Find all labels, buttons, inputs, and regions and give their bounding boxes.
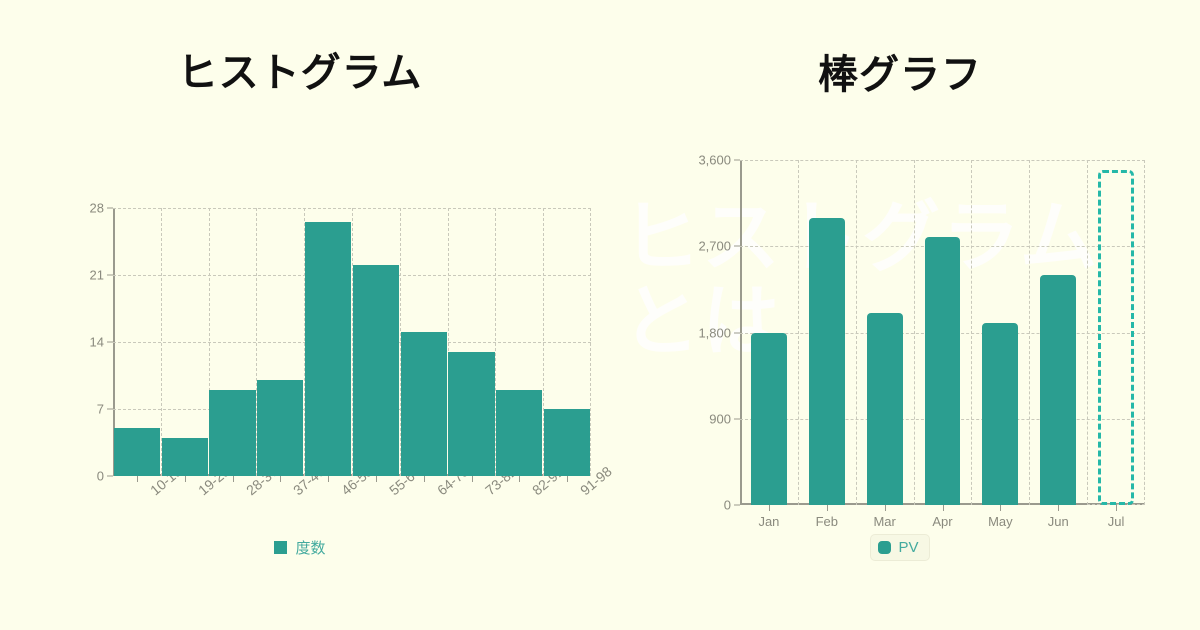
pv-legend-chip[interactable]: PV [871, 535, 928, 560]
y-axis-tick-label: 21 [90, 268, 104, 283]
x-tick-mark [1116, 505, 1117, 511]
x-tick-mark [1058, 505, 1059, 511]
bargraph-legend-label: PV [898, 539, 918, 556]
y-axis-tick-label: 14 [90, 335, 104, 350]
x-axis-tick-label: 55-64 [386, 486, 396, 498]
bar-46-55[interactable] [305, 222, 351, 476]
x-axis-tick-label: 19-28 [195, 486, 205, 498]
gridline-vertical [971, 160, 972, 505]
histogram-panel: ヒストグラム 0714212810-1919-2828-3737-4646-55… [0, 0, 600, 630]
y-axis-tick-label: 0 [97, 469, 104, 484]
bar-Feb[interactable] [809, 218, 845, 506]
bargraph-plot-area: 09001,8002,7003,600JanFebMarAprMayJunJul [740, 160, 1145, 505]
bar-Jan[interactable] [751, 333, 787, 506]
y-axis-tick-label: 2,700 [698, 239, 731, 254]
bar-73-82[interactable] [448, 352, 494, 476]
y-axis-tick-label: 900 [709, 411, 731, 426]
y-tick-mark [107, 409, 113, 410]
histogram-legend-label: 度数 [295, 537, 325, 558]
x-axis-tick-label: Apr [932, 514, 952, 529]
x-tick-mark [567, 476, 568, 482]
x-axis-tick-label: 37-46 [290, 486, 300, 498]
y-tick-mark [107, 275, 113, 276]
x-axis-tick-label: Feb [816, 514, 838, 529]
bar-55-64[interactable] [353, 265, 399, 476]
y-axis-tick-label: 3,600 [698, 153, 731, 168]
bar-Apr[interactable] [925, 237, 961, 505]
x-axis-tick-label: Jul [1108, 514, 1125, 529]
x-tick-mark [137, 476, 138, 482]
x-axis-tick-label: 82-91 [529, 486, 539, 498]
y-axis-tick-label: 0 [724, 498, 731, 513]
y-tick-mark [107, 476, 113, 477]
y-tick-mark [107, 208, 113, 209]
y-axis-tick-label: 28 [90, 201, 104, 216]
histogram-plot-area: 0714212810-1919-2828-3737-4646-5555-6464… [113, 208, 591, 476]
bar-May[interactable] [982, 323, 1018, 505]
square-marker-icon [274, 541, 287, 554]
x-axis-tick-label: 46-55 [338, 486, 348, 498]
y-tick-mark [734, 332, 740, 333]
bargraph-title: 棒グラフ [600, 42, 1200, 100]
gridline-vertical [914, 160, 915, 505]
x-tick-mark [885, 505, 886, 511]
gridline-vertical [1029, 160, 1030, 505]
x-tick-mark [376, 476, 377, 482]
bar-19-28[interactable] [162, 438, 208, 476]
chart-canvas: ヒストグラム 0714212810-1919-2828-3737-4646-55… [0, 0, 1200, 630]
bar-28-37[interactable] [209, 390, 255, 476]
x-tick-mark [769, 505, 770, 511]
x-axis-tick-label: 91-98 [577, 486, 587, 498]
x-axis-tick-label: Jan [758, 514, 779, 529]
x-axis-tick-label: 28-37 [243, 486, 253, 498]
bar-91-98[interactable] [544, 409, 590, 476]
x-tick-mark [1000, 505, 1001, 511]
x-tick-mark [943, 505, 944, 511]
bar-37-46[interactable] [257, 380, 303, 476]
gridline-horizontal [740, 160, 1145, 161]
bar-82-91[interactable] [496, 390, 542, 476]
histogram-legend[interactable]: 度数 [0, 537, 600, 558]
histogram-title: ヒストグラム [0, 40, 600, 98]
x-axis-tick-label: Jun [1048, 514, 1069, 529]
x-axis-tick-label: 64-73 [434, 486, 444, 498]
circle-marker-icon [878, 541, 891, 554]
x-tick-mark [424, 476, 425, 482]
y-tick-mark [734, 246, 740, 247]
bar-10-19[interactable] [114, 428, 160, 476]
x-tick-mark [328, 476, 329, 482]
gridline-vertical [161, 208, 162, 476]
y-axis-tick-label: 7 [97, 402, 104, 417]
x-tick-mark [233, 476, 234, 482]
x-axis-tick-label: May [988, 514, 1013, 529]
x-tick-mark [472, 476, 473, 482]
bargraph-panel: 棒グラフ ヒストグラム とは 09001,8002,7003,600JanFeb… [600, 0, 1200, 630]
x-tick-mark [280, 476, 281, 482]
gridline-vertical [856, 160, 857, 505]
x-axis-tick-label: 10-19 [147, 486, 157, 498]
x-axis-tick-label: 73-82 [482, 486, 492, 498]
x-tick-mark [827, 505, 828, 511]
gridline-vertical [798, 160, 799, 505]
bargraph-legend[interactable]: PV [600, 535, 1200, 560]
y-tick-mark [734, 160, 740, 161]
x-tick-mark [519, 476, 520, 482]
bar-placeholder-Jul[interactable] [1098, 170, 1134, 505]
bar-Jun[interactable] [1040, 275, 1076, 505]
y-tick-mark [734, 418, 740, 419]
x-tick-mark [185, 476, 186, 482]
x-axis-tick-label: Mar [873, 514, 895, 529]
y-axis-tick-label: 1,800 [698, 325, 731, 340]
bar-Mar[interactable] [867, 313, 903, 505]
bar-64-73[interactable] [401, 332, 447, 476]
y-tick-mark [734, 505, 740, 506]
y-tick-mark [107, 342, 113, 343]
